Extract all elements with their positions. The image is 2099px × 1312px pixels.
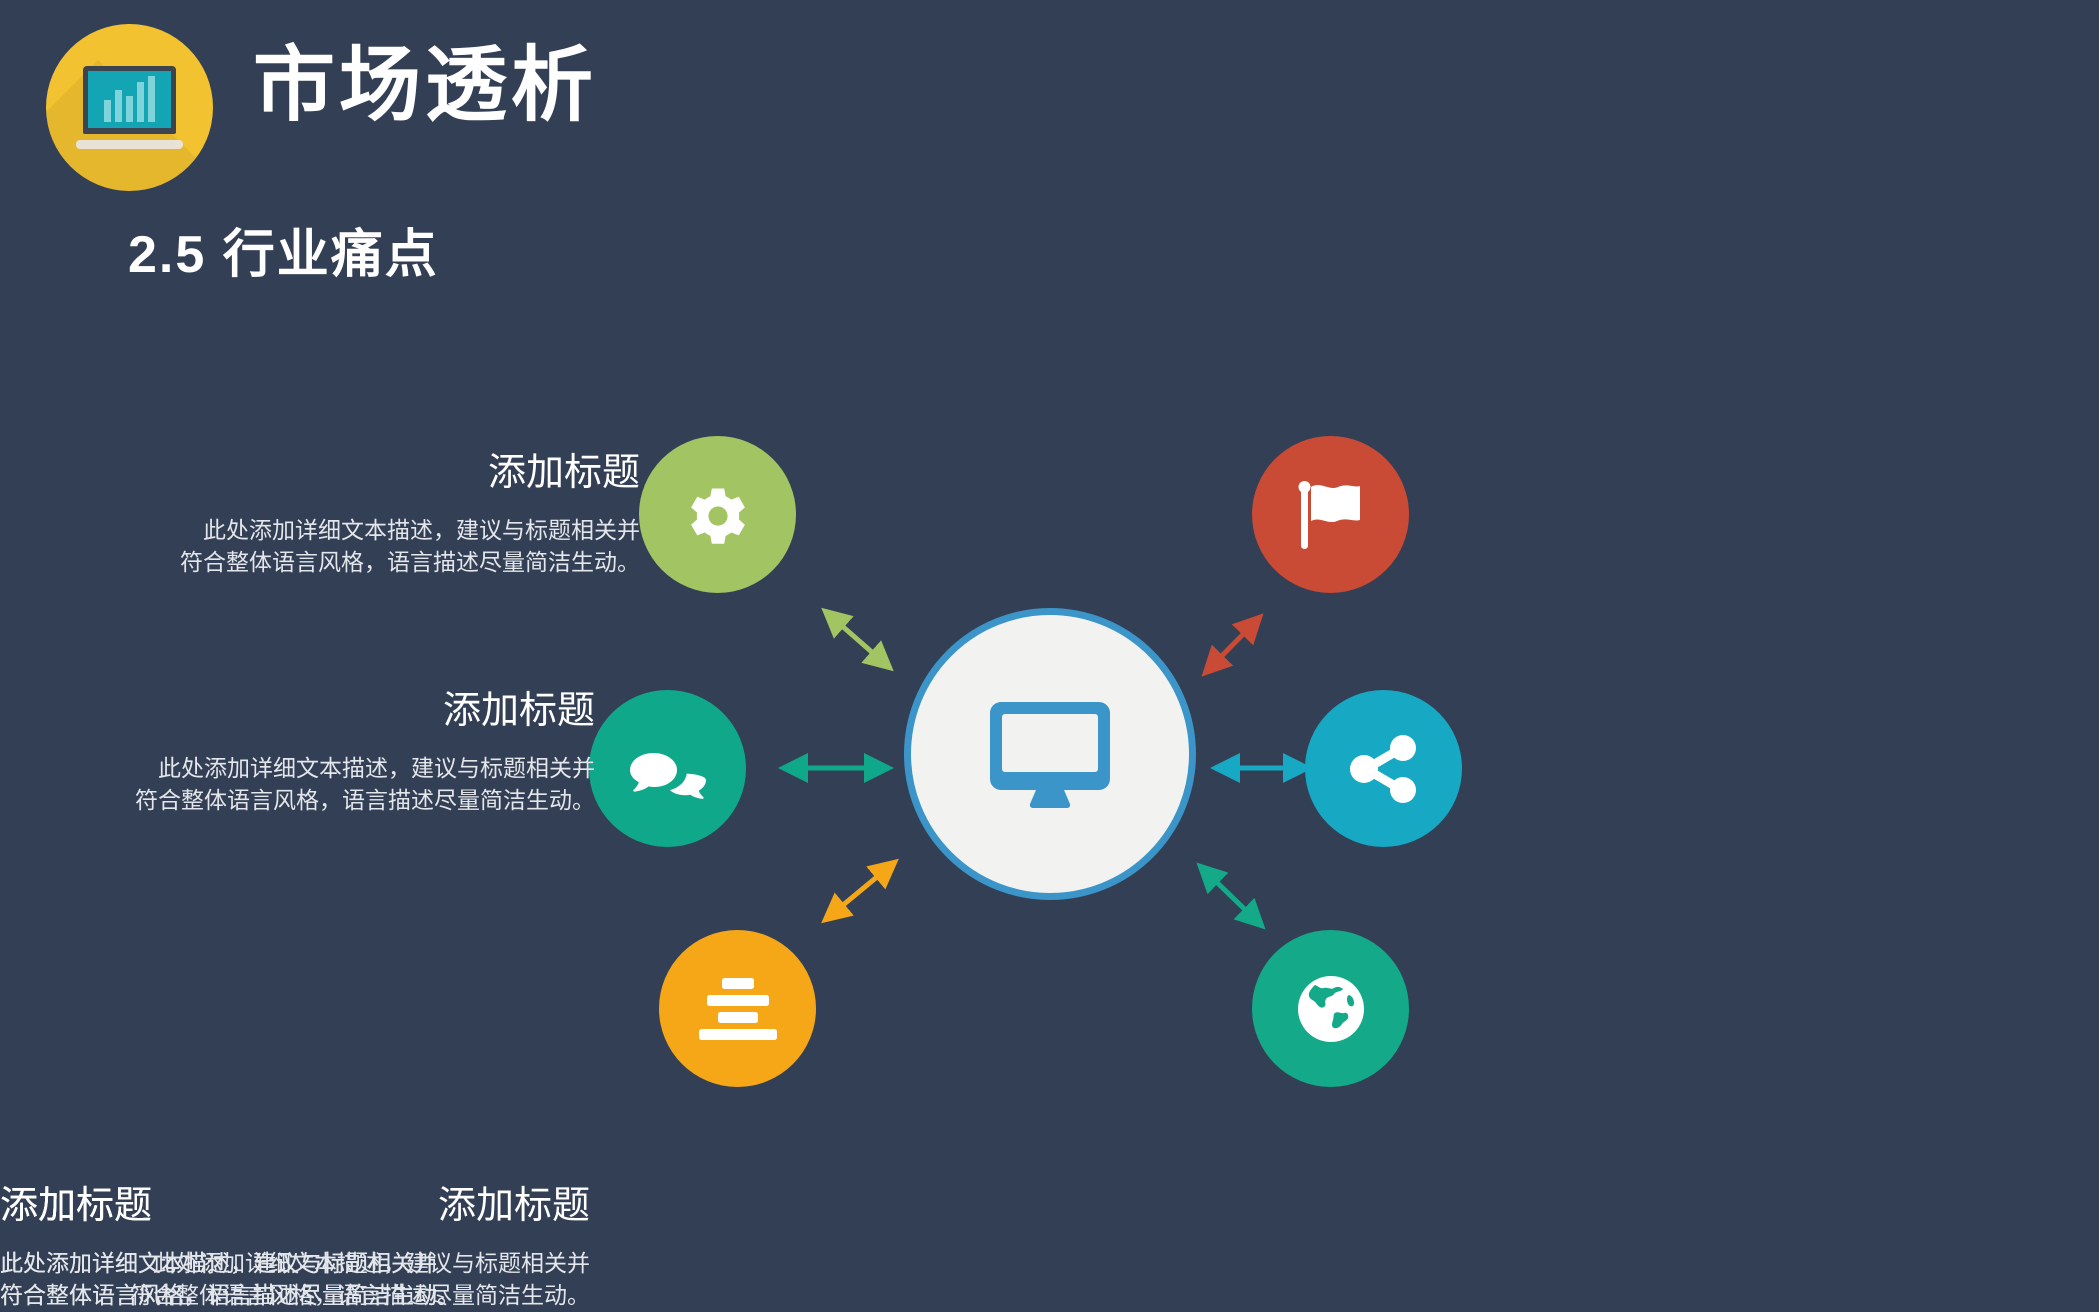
connector-globe [1200,866,1262,926]
block-title: 添加标题 [130,452,640,496]
brand-logo [46,24,213,191]
share-nodes-icon [1349,735,1419,803]
globe-icon [1295,973,1367,1045]
block-body: 此处添加详细文本描述，建议与标题相关并 符合整体语言风格，语言描述尽量简洁生动。 [85,752,595,817]
node-circle-globe[interactable] [1252,930,1409,1087]
flag-icon [1298,481,1364,549]
block-title: 添加标题 [85,690,595,734]
block-title: 添加标题 [0,1185,460,1229]
connector-gear [825,611,890,668]
laptop-base [76,140,183,149]
node-circle-chat[interactable] [589,690,746,847]
hub-circle[interactable] [904,608,1196,900]
node-circle-flag[interactable] [1252,436,1409,593]
laptop-bar-chart-icon [76,66,183,149]
page-title: 市场透析 [253,45,597,127]
node-circle-list[interactable] [659,930,816,1087]
laptop-screen [88,71,171,128]
laptop-screen-frame [83,66,176,134]
desktop-monitor-icon [988,700,1112,808]
text-block-chat: 添加标题 此处添加详细文本描述，建议与标题相关并 符合整体语言风格，语言描述尽量… [85,690,595,817]
text-block-globe: 添加标题 此处添加详细文本描述，建议与标题相关并 符合整体语言风格，语言描述尽量… [0,1185,460,1312]
text-block-gear: 添加标题 此处添加详细文本描述，建议与标题相关并 符合整体语言风格，语言描述尽量… [130,452,640,579]
node-circle-gear[interactable] [639,436,796,593]
slide-canvas: 市场透析 2.5 行业痛点 [0,0,2099,1180]
section-heading: 2.5 行业痛点 [128,229,439,281]
gear-icon [684,481,752,549]
connector-arrows [0,0,2099,1180]
connector-list [825,862,895,920]
bar-chart-glyph [88,71,171,128]
chat-bubbles-icon [630,736,706,802]
align-bars-icon [699,978,777,1040]
node-circle-share[interactable] [1305,690,1462,847]
block-body: 此处添加详细文本描述，建议与标题相关并 符合整体语言风格，语言描述尽量简洁生动。 [0,1247,460,1312]
connector-flag [1205,617,1260,673]
block-body: 此处添加详细文本描述，建议与标题相关并 符合整体语言风格，语言描述尽量简洁生动。 [130,514,640,579]
